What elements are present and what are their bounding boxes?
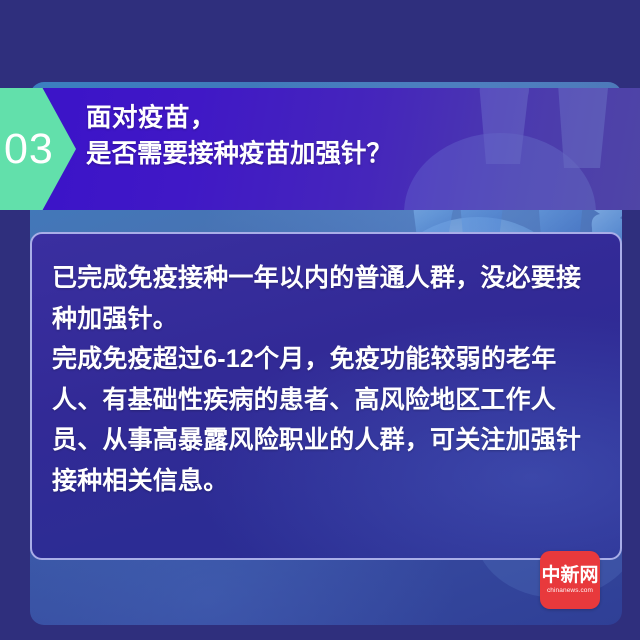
answer-paragraph-2: 完成免疫超过6-12个月，免疫功能较弱的老年人、有基础性疾病的患者、高风险地区工… bbox=[52, 339, 598, 501]
poster-canvas: 03 面对疫苗， 是否需要接种疫苗加强针？ 已完成免疫接种一年以内的普通人群，没… bbox=[0, 0, 640, 640]
chinanews-logo: 中新网 chinanews.com bbox=[540, 551, 600, 609]
question-title-line-2: 是否需要接种疫苗加强针？ bbox=[86, 136, 556, 172]
question-title: 面对疫苗， 是否需要接种疫苗加强针？ bbox=[86, 100, 556, 172]
logo-url: chinanews.com bbox=[547, 588, 593, 595]
answer-body: 已完成免疫接种一年以内的普通人群，没必要接种加强针。 完成免疫超过6-12个月，… bbox=[32, 234, 620, 501]
question-number: 03 bbox=[0, 128, 54, 171]
logo-name: 中新网 bbox=[541, 566, 598, 585]
question-title-line-1: 面对疫苗， bbox=[86, 100, 556, 136]
answer-content-box: 已完成免疫接种一年以内的普通人群，没必要接种加强针。 完成免疫超过6-12个月，… bbox=[30, 232, 622, 560]
answer-paragraph-1: 已完成免疫接种一年以内的普通人群，没必要接种加强针。 bbox=[52, 258, 598, 339]
